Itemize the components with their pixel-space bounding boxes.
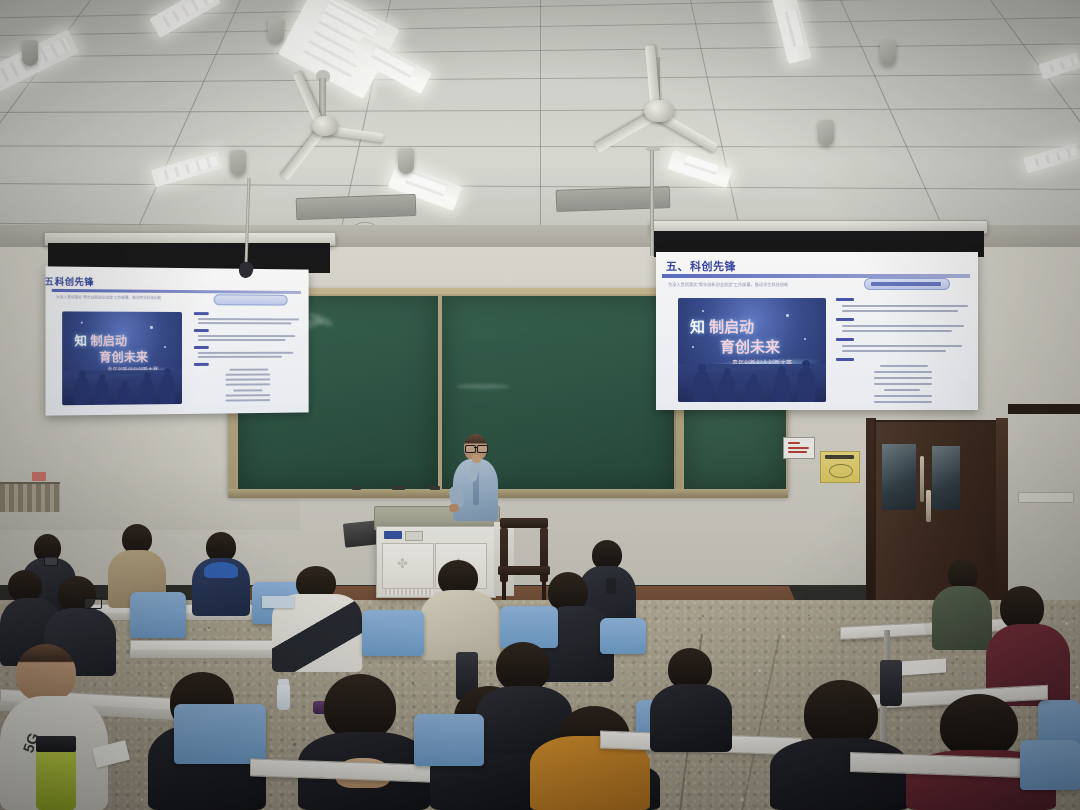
- ceiling-speaker: [818, 120, 834, 146]
- audience-person-l2: [190, 532, 252, 616]
- ceiling-speaker: [22, 40, 38, 66]
- ceiling-light-strip: [0, 29, 79, 93]
- audience-person-r4: [770, 680, 910, 810]
- ceiling-fan: [250, 70, 410, 190]
- floor-speck: [204, 662, 205, 663]
- wall-right-of-door: [1008, 412, 1080, 608]
- air-vent: [296, 194, 417, 220]
- audience-person-front-c1: [298, 674, 430, 810]
- door-header-shadow: [1008, 404, 1080, 414]
- slide-subtitle-left: 为深入贯彻落实"青年创新创业创造"工作部署，推动学生科技创新: [56, 295, 161, 301]
- audience-person-hoodie: [272, 566, 362, 672]
- left-projection-screen: 科创先锋 五、 为深入贯彻落实"青年创新创业创造"工作部署，推动学生科技创新 知…: [46, 266, 309, 415]
- seat-front-2[interactable]: [414, 714, 484, 766]
- ceiling-speaker: [880, 40, 896, 66]
- thermos-green-cap: [36, 736, 76, 752]
- bottle-cap-1: [278, 679, 289, 685]
- poster-image-left: 知 制启动 育创未来 青年创新创业创新大赛: [62, 311, 182, 405]
- ceiling-grid-line: [840, 0, 948, 232]
- thermos-green: [36, 744, 76, 810]
- right-projection-screen: 五、 科创先锋 为深入贯彻落实"青年创新创业创造"工作部署，推动学生科技创新 知…: [656, 252, 978, 410]
- warning-sign: [820, 451, 860, 483]
- slide-section-number-right: 五、: [666, 258, 689, 274]
- floor-speck: [782, 635, 785, 638]
- radiator: [0, 482, 60, 512]
- projector-pole: [650, 150, 654, 256]
- slide-badge-right: [864, 278, 950, 290]
- seat-front-4[interactable]: [1020, 740, 1080, 790]
- ceiling-grid-line: [540, 0, 541, 232]
- ceiling-speaker: [230, 150, 246, 176]
- audience-glasses-1: [44, 556, 58, 566]
- slide-title-right: 科创先锋: [690, 258, 736, 274]
- fan-rod: [319, 78, 326, 118]
- floor-speck: [816, 637, 818, 639]
- slide-section-number-left: 五、: [46, 275, 65, 288]
- ceiling-light-strip: [151, 151, 223, 188]
- side-chair-back[interactable]: [500, 518, 548, 528]
- seat-left-1[interactable]: [130, 592, 186, 638]
- audience-person-r3: [650, 648, 732, 752]
- blackboard-panel-4: [682, 398, 788, 494]
- floor-speck: [737, 695, 739, 697]
- floor-speck: [758, 669, 761, 672]
- door-frame-right: [996, 418, 1008, 604]
- floor-speck: [208, 627, 210, 629]
- floor-speck: [956, 658, 958, 660]
- ceiling-grid-line: [133, 0, 241, 232]
- audience-person-r1: [930, 560, 994, 650]
- radiator-sticker: [32, 472, 46, 481]
- seat-front-1[interactable]: [174, 704, 266, 764]
- ceiling-light-strip: [772, 0, 811, 64]
- presenter: [448, 434, 502, 530]
- floor-speck: [294, 675, 296, 677]
- floor-speck: [702, 615, 704, 617]
- floor-speck: [141, 798, 143, 800]
- ceiling-speaker: [268, 18, 284, 44]
- floor-speck: [211, 621, 212, 622]
- ceiling-light-strip: [1039, 52, 1080, 80]
- phone[interactable]: [606, 578, 616, 594]
- ceiling-grid-line: [990, 0, 1080, 210]
- slide-subtitle-right: 为深入贯彻落实"青年创新创业创造"工作部署，推动学生科技创新: [668, 282, 788, 288]
- floor-speck: [808, 615, 810, 617]
- audience-glasses-2: [84, 598, 102, 609]
- poster-image-right: 知 制启动 育创未来 青年创新创业创新大赛: [678, 298, 826, 402]
- lecture-hall-photo: ✤ ✤ 科创先锋 五、 为深入贯彻落实"青年创新创业创造"工作部署，推动学生科技…: [0, 0, 1080, 810]
- fan-hub: [644, 100, 673, 122]
- floor-speck: [1076, 686, 1079, 689]
- water-bottle-1: [277, 684, 290, 710]
- chalk-tray: [228, 489, 788, 498]
- seat-center-1[interactable]: [362, 610, 424, 656]
- slide-badge-left: [214, 294, 288, 305]
- ceiling-grid-line: [0, 0, 91, 210]
- floor-speck: [710, 758, 712, 760]
- notebook: [262, 596, 294, 608]
- seat-center-right[interactable]: [600, 618, 646, 654]
- floor-speck: [293, 743, 296, 746]
- notice-sign: [783, 437, 815, 459]
- light-switch-plate[interactable]: [1018, 492, 1074, 503]
- fan-hub: [312, 116, 338, 136]
- suspended-ceiling: [0, 0, 1080, 232]
- ceiling-fan: [575, 48, 754, 182]
